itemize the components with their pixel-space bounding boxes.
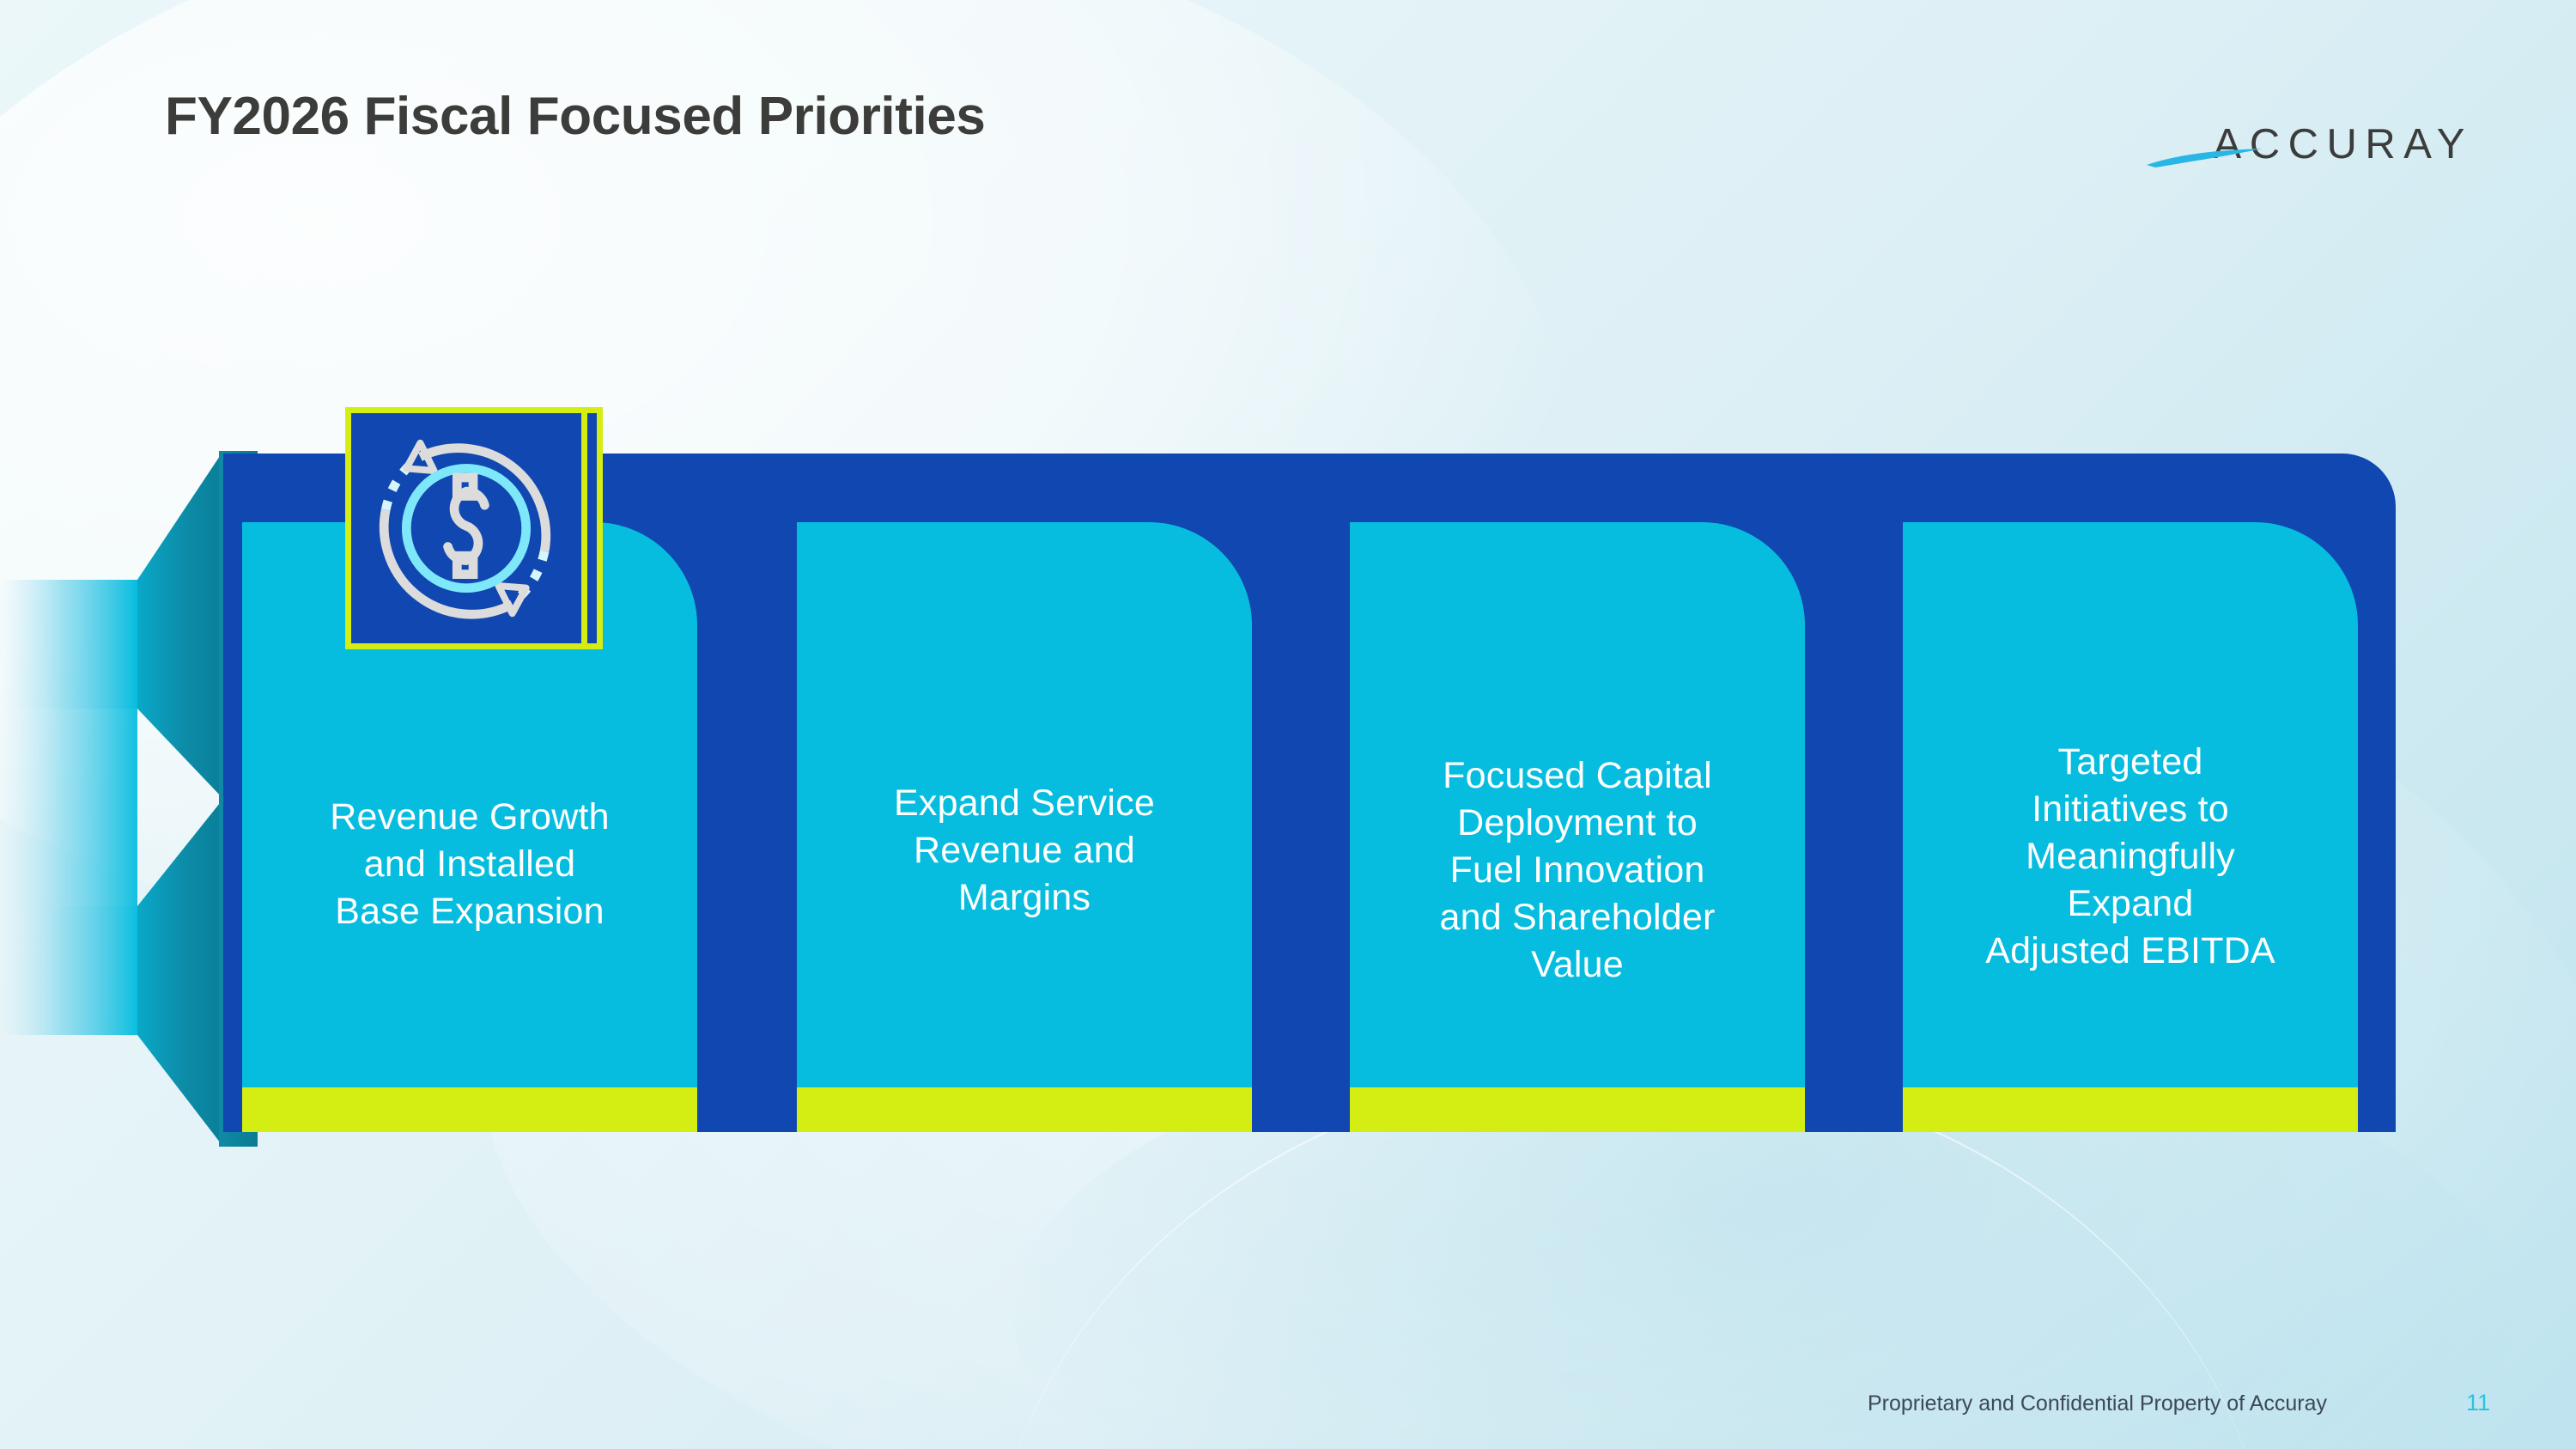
ribbon-shape (0, 451, 258, 1147)
priority-card-4-label: Targeted Initiatives to Meaningfully Exp… (1903, 739, 2358, 975)
dollar-circular-arrows-icon (345, 407, 587, 649)
priority-card-1-label: Revenue Growth and Installed Base Expans… (242, 794, 697, 935)
confidentiality-footer: Proprietary and Confidential Property of… (1868, 1391, 2327, 1416)
ribbon-3d-chevron (0, 451, 258, 1147)
priority-card-3-label: Focused Capital Deployment to Fuel Innov… (1350, 752, 1805, 989)
priority-card-2[interactable]: Expand Service Revenue and Margins (797, 522, 1252, 1132)
priority-card-1-accent-bar (242, 1087, 697, 1132)
priority-card-3[interactable]: Focused Capital Deployment to Fuel Innov… (1350, 522, 1805, 1132)
page-number: 11 (2466, 1390, 2490, 1416)
priority-card-4-accent-bar (1903, 1087, 2358, 1132)
page-title: FY2026 Fiscal Focused Priorities (165, 86, 986, 147)
accuray-swoosh-icon (2145, 147, 2265, 169)
accuray-logo: ACCURAY (2155, 120, 2473, 170)
priorities-band: Revenue Growth and Installed Base Expans… (223, 454, 2396, 1132)
priority-card-4[interactable]: Targeted Initiatives to Meaningfully Exp… (1903, 522, 2358, 1132)
priority-card-2-accent-bar (797, 1087, 1252, 1132)
priority-card-2-label: Expand Service Revenue and Margins (797, 780, 1252, 922)
priority-card-3-accent-bar (1350, 1087, 1805, 1132)
slide-canvas: FY2026 Fiscal Focused Priorities ACCURAY (0, 0, 2576, 1449)
